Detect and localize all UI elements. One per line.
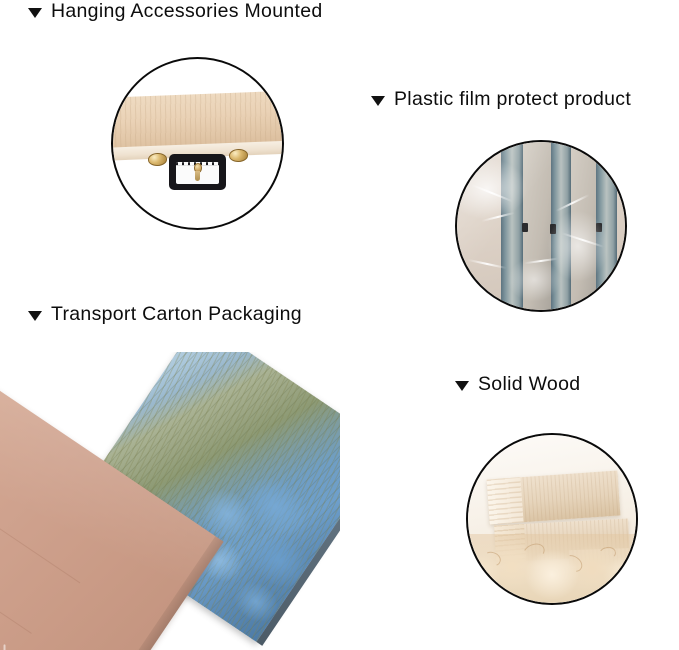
feature-label-hanging-text: Hanging Accessories Mounted — [51, 0, 323, 23]
carton-crease — [0, 542, 32, 633]
photo-plastic-inner — [457, 142, 625, 310]
carton-crease — [0, 479, 80, 584]
brass-screw-left — [147, 152, 167, 166]
brass-screw-right — [228, 148, 248, 162]
triangle-down-icon — [28, 8, 42, 18]
feature-label-transport-text: Transport Carton Packaging — [51, 303, 302, 326]
feature-label-wood: Solid Wood — [455, 373, 580, 396]
feature-label-plastic-text: Plastic film protect product — [394, 88, 631, 111]
photo-plastic-film — [455, 140, 627, 312]
shaving-curl — [481, 549, 502, 568]
wood-beam-top — [487, 471, 621, 525]
photo-solid-wood — [466, 433, 638, 605]
feature-label-plastic: Plastic film protect product — [371, 88, 631, 111]
triangle-down-icon — [28, 311, 42, 321]
sawtooth-hanger-bracket — [169, 154, 226, 189]
shaving-curl — [598, 546, 617, 562]
feature-label-hanging: Hanging Accessories Mounted — [28, 0, 323, 23]
beam-end-grain — [487, 478, 524, 526]
photo-hanging-accessories — [111, 57, 284, 230]
canvas-side-edge — [256, 446, 340, 646]
bracket-window — [176, 162, 220, 184]
shaving-curl — [521, 541, 547, 564]
photo-hanging-inner — [113, 59, 282, 228]
film-gloss-overlay — [457, 142, 625, 310]
product-feature-infographic: Hanging Accessories Mounted Plastic film… — [0, 0, 679, 650]
center-screw-shaft — [195, 171, 200, 181]
carton-staple — [4, 644, 6, 650]
photo-transport-carton — [0, 352, 340, 650]
triangle-down-icon — [455, 381, 469, 391]
feature-label-transport: Transport Carton Packaging — [28, 303, 302, 326]
triangle-down-icon — [371, 96, 385, 106]
wood-shavings — [468, 534, 636, 603]
shaving-curl — [560, 552, 585, 576]
photo-wood-inner — [468, 435, 636, 603]
feature-label-wood-text: Solid Wood — [478, 373, 580, 396]
